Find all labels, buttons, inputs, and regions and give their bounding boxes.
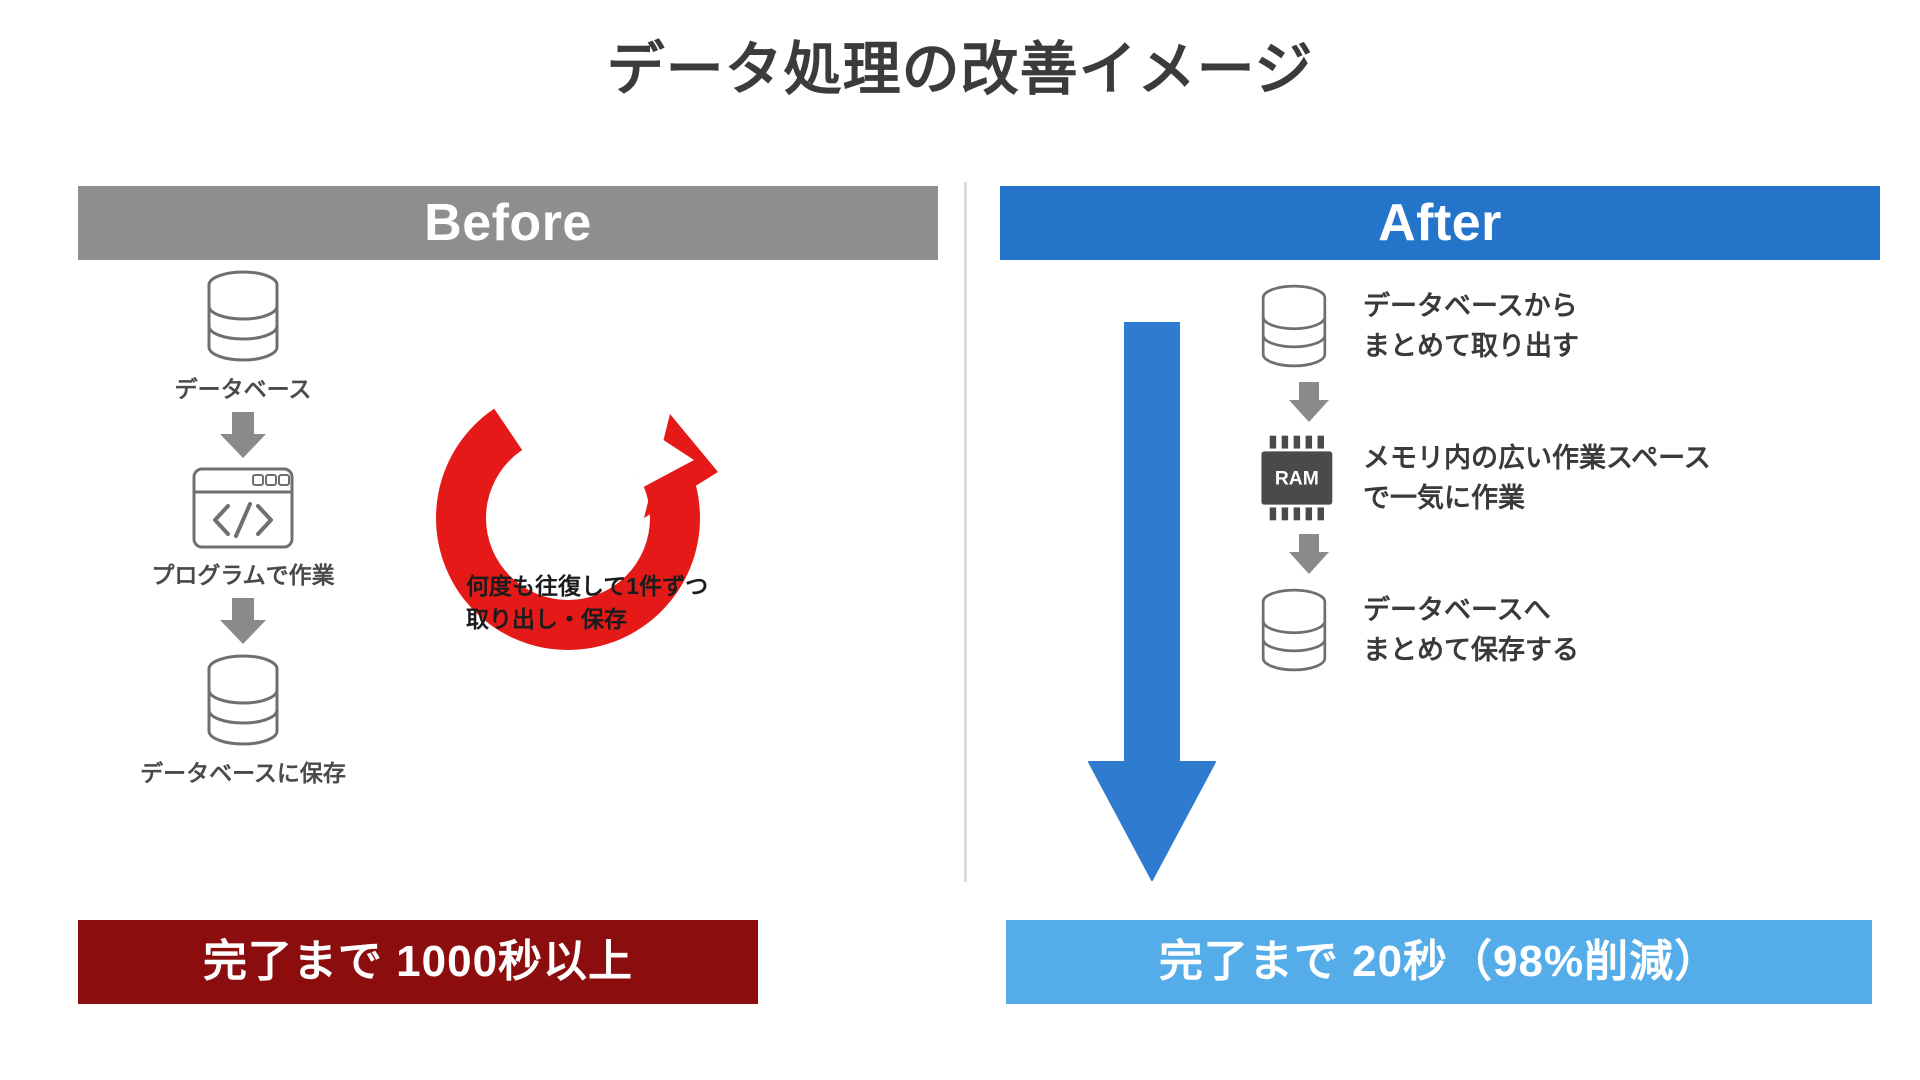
after-step-1: データベースから まとめて取り出す xyxy=(1255,278,1875,374)
after-step-1-line-2: まとめて取り出す xyxy=(1363,326,1579,367)
before-panel: Before xyxy=(78,186,938,260)
ram-chip-icon: RAM xyxy=(1255,432,1347,524)
after-step-3-line-1: データベースへ xyxy=(1363,590,1579,631)
after-step-2: RAM メモリ内の広い作業スペース で一気に作業 xyxy=(1255,430,1875,526)
arrow-head-icon xyxy=(220,620,266,644)
after-step-2-line-2: で一気に作業 xyxy=(1363,478,1711,519)
before-arrow-1 xyxy=(220,412,266,458)
database-icon xyxy=(1255,586,1333,674)
before-step-3-label: データベースに保存 xyxy=(78,754,408,788)
after-step-2-icon-cell: RAM xyxy=(1255,432,1363,524)
after-step-3-line-2: まとめて保存する xyxy=(1363,630,1579,671)
after-connector-1 xyxy=(1255,374,1363,430)
arrow-shaft xyxy=(1299,382,1319,400)
database-icon xyxy=(200,652,286,748)
before-result-bar: 完了まで 1000秒以上 xyxy=(78,920,758,1004)
arrow-head-icon xyxy=(1289,552,1329,574)
arrow-shaft xyxy=(1299,534,1319,552)
arrow-down-icon xyxy=(1289,534,1329,574)
after-panel: After xyxy=(1000,186,1880,260)
after-step-2-line-1: メモリ内の広い作業スペース xyxy=(1363,438,1711,479)
database-icon xyxy=(1255,282,1333,370)
column-divider xyxy=(964,182,967,882)
after-step-3-icon-cell xyxy=(1255,586,1363,674)
before-step-1-label: データベース xyxy=(78,370,408,404)
before-step-3: データベースに保存 xyxy=(78,652,408,788)
arrow-shaft xyxy=(232,598,254,620)
arrow-head-icon xyxy=(1289,400,1329,422)
ram-chip-label: RAM xyxy=(1275,468,1319,489)
after-step-1-line-1: データベースから xyxy=(1363,286,1579,327)
after-header: After xyxy=(1000,186,1880,260)
after-step-1-label: データベースから まとめて取り出す xyxy=(1363,286,1579,367)
arrow-shaft xyxy=(232,412,254,434)
after-step-2-label: メモリ内の広い作業スペース で一気に作業 xyxy=(1363,438,1711,519)
cycle-caption-line-1: 何度も往復して1件ずつ xyxy=(466,570,766,603)
after-step-1-icon-cell xyxy=(1255,282,1363,370)
cycle-caption-line-2: 取り出し・保存 xyxy=(466,603,766,636)
big-down-arrow-icon xyxy=(1082,322,1222,882)
page-title: データ処理の改善イメージ xyxy=(0,38,1920,102)
database-icon xyxy=(200,268,286,364)
before-header: Before xyxy=(78,186,938,260)
before-step-2-label: プログラムで作業 xyxy=(78,556,408,590)
after-flow: データベースから まとめて取り出す xyxy=(1255,278,1875,678)
after-step-3-label: データベースへ まとめて保存する xyxy=(1363,590,1579,671)
after-step-3: データベースへ まとめて保存する xyxy=(1255,582,1875,678)
before-step-1: データベース xyxy=(78,268,408,404)
arrow-head-icon xyxy=(220,434,266,458)
arrow-down-icon xyxy=(1289,382,1329,422)
before-arrow-2 xyxy=(220,598,266,644)
after-result-bar: 完了まで 20秒（98%削減） xyxy=(1006,920,1872,1004)
code-window-icon xyxy=(191,466,295,550)
before-flow: データベース プログラムで作業 データベースに保存 xyxy=(78,268,408,788)
before-step-2: プログラムで作業 xyxy=(78,466,408,590)
after-connector-2 xyxy=(1255,526,1363,582)
cycle-caption: 何度も往復して1件ずつ 取り出し・保存 xyxy=(466,570,766,637)
